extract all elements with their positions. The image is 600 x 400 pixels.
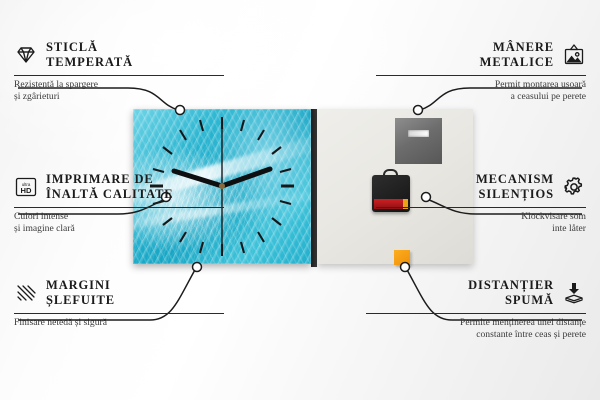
callout-rule xyxy=(14,207,224,208)
callout-head: MECANISMSILENȚIOS xyxy=(376,172,586,203)
callout-title: MÂNEREMETALICE xyxy=(480,40,554,71)
ultra-hd-icon: ultra HD xyxy=(14,175,38,199)
callout-subtitle: Permite menținerea unei distanțeconstant… xyxy=(366,317,586,342)
foam-spacer-pad xyxy=(394,250,410,265)
callout-rule xyxy=(366,313,586,314)
callout-head: MARGINIȘLEFUITE xyxy=(14,278,224,309)
callout-rule xyxy=(14,313,224,314)
callout-subtitle: Culori intenseși imagine clară xyxy=(14,211,224,236)
picture-hanger-icon xyxy=(562,43,586,67)
metal-hanger-plate xyxy=(395,118,442,164)
callout-manere-metalice[interactable]: MÂNEREMETALICE Permit montarea ușoarăa c… xyxy=(376,40,586,104)
hanger-slot xyxy=(408,130,429,137)
callout-subtitle: Klockvisare sominte låter xyxy=(376,211,586,236)
diamond-icon xyxy=(14,43,38,67)
callout-title: STICLĂTEMPERATĂ xyxy=(46,40,133,71)
callout-subtitle: Rezistență la spargereși zgârieturi xyxy=(14,79,224,104)
callout-distantier-spuma[interactable]: DISTANȚIERSPUMĂ Permite menținerea unei … xyxy=(366,278,586,342)
callout-title: MARGINIȘLEFUITE xyxy=(46,278,115,309)
callout-title: MECANISMSILENȚIOS xyxy=(476,172,554,203)
callout-head: STICLĂTEMPERATĂ xyxy=(14,40,224,71)
callout-head: MÂNEREMETALICE xyxy=(376,40,586,71)
gear-icon xyxy=(562,175,586,199)
svg-text:HD: HD xyxy=(21,186,32,195)
callout-subtitle: Permit montarea ușoarăa ceasului pe pere… xyxy=(376,79,586,104)
callout-subtitle: Finisare netedă și sigură xyxy=(14,317,224,330)
callout-rule xyxy=(14,75,224,76)
callout-head: ultra HD IMPRIMARE DEÎNALTĂ CALITATE xyxy=(14,172,224,203)
callout-title: DISTANȚIERSPUMĂ xyxy=(468,278,554,309)
callout-imprimare-inalta-calitate[interactable]: ultra HD IMPRIMARE DEÎNALTĂ CALITATE Cul… xyxy=(14,172,224,236)
callout-title: IMPRIMARE DEÎNALTĂ CALITATE xyxy=(46,172,174,203)
callout-margini-slefuite[interactable]: MARGINIȘLEFUITE Finisare netedă și sigur… xyxy=(14,278,224,329)
callout-head: DISTANȚIERSPUMĂ xyxy=(366,278,586,309)
callout-rule xyxy=(376,207,586,208)
callout-mecanism-silentios[interactable]: MECANISMSILENȚIOS Klockvisare sominte lå… xyxy=(376,172,586,236)
hatch-lines-icon xyxy=(14,281,38,305)
infographic-stage: STICLĂTEMPERATĂ Rezistență la spargereși… xyxy=(0,0,600,400)
callout-rule xyxy=(376,75,586,76)
callout-sticla-temperata[interactable]: STICLĂTEMPERATĂ Rezistență la spargereși… xyxy=(14,40,224,104)
foam-spacer-icon xyxy=(562,281,586,305)
